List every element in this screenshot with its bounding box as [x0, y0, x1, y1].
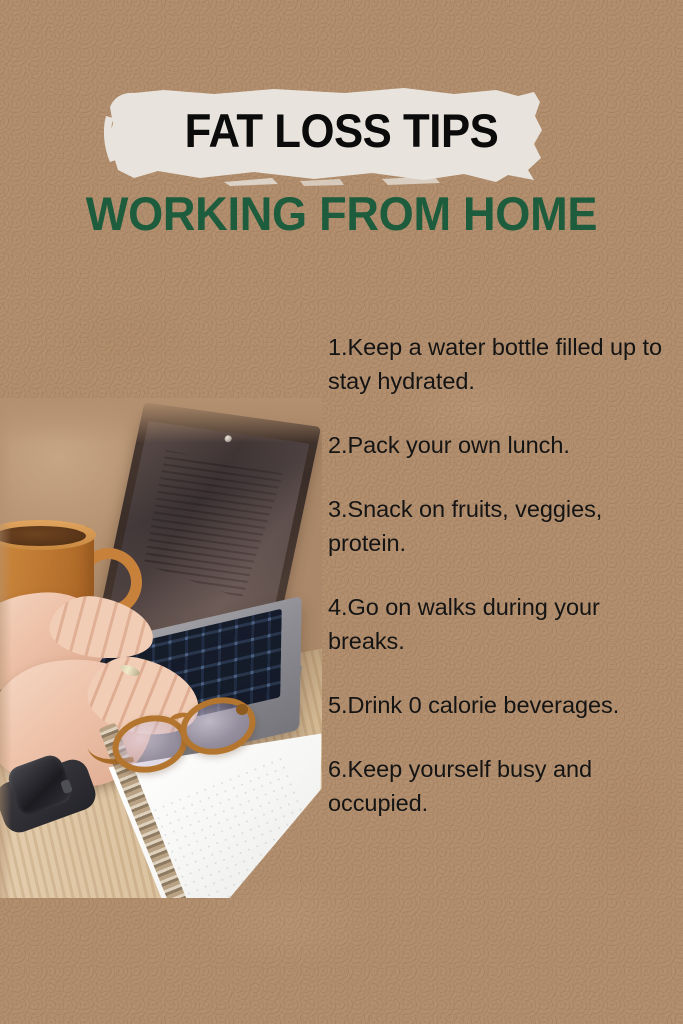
- list-item: 1.Keep a water bottle filled up to stay …: [328, 330, 666, 398]
- eyeglasses-hinge: [236, 704, 248, 715]
- poster-canvas: FAT LOSS TIPS WORKING FROM HOME: [0, 0, 683, 1024]
- page-title: FAT LOSS TIPS: [24, 103, 659, 158]
- list-item: 5.Drink 0 calorie beverages.: [328, 688, 666, 722]
- brush-stroke-fleck-1: [224, 178, 278, 186]
- list-item: 6.Keep yourself busy and occupied.: [328, 752, 666, 820]
- page-subtitle: WORKING FROM HOME: [14, 186, 670, 241]
- brush-stroke-fleck-2: [300, 179, 344, 186]
- workspace-photo: [0, 398, 322, 898]
- list-item: 2.Pack your own lunch.: [328, 428, 666, 462]
- list-item: 3.Snack on fruits, veggies, protein.: [328, 492, 666, 560]
- brush-stroke-fleck-3: [382, 176, 440, 185]
- list-item: 4.Go on walks during your breaks.: [328, 590, 666, 658]
- tips-list: 1.Keep a water bottle filled up to stay …: [328, 330, 666, 820]
